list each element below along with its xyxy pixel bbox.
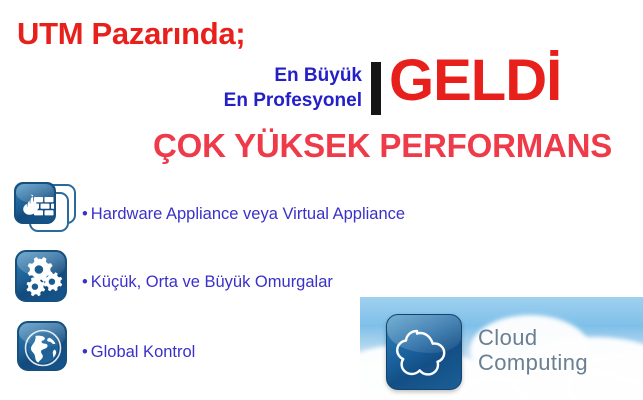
feature-row: •Küçük, Orta ve Büyük Omurgalar <box>10 248 333 316</box>
feature-label-text: Küçük, Orta ve Büyük Omurgalar <box>91 273 333 291</box>
headline-emphasis: GELDİ <box>389 52 561 110</box>
bullet-marker: • <box>82 343 88 361</box>
globe-icon <box>10 318 78 386</box>
bullet-marker: • <box>82 205 88 223</box>
feature-row: •Global Kontrol <box>10 318 195 386</box>
cloud-computing-banner: Cloud Computing <box>360 297 643 400</box>
feature-row: •Hardware Appliance veya Virtual Applian… <box>10 180 405 248</box>
cloud-banner-text: Cloud Computing <box>478 325 588 375</box>
promo-banner: UTM Pazarında; En Büyük En Profesyonel G… <box>0 0 643 400</box>
cloud-icon <box>386 314 462 390</box>
headline-main: UTM Pazarında; <box>17 18 245 49</box>
headline-subtitle-group: En Büyük En Profesyonel <box>160 63 362 113</box>
headline-tagline: ÇOK YÜKSEK PERFORMANS <box>153 129 612 162</box>
feature-label-text: Global Kontrol <box>91 343 196 361</box>
gears-icon <box>10 248 78 316</box>
feature-label: •Global Kontrol <box>82 344 195 361</box>
firewall-icon <box>10 180 78 248</box>
vertical-divider-bar <box>371 62 381 115</box>
bullet-marker: • <box>82 273 88 291</box>
cloud-banner-line-2: Computing <box>478 350 588 375</box>
feature-label: •Küçük, Orta ve Büyük Omurgalar <box>82 274 333 291</box>
headline-sub-line-1: En Büyük <box>160 63 362 88</box>
feature-label: •Hardware Appliance veya Virtual Applian… <box>82 206 405 223</box>
headline-sub-line-2: En Profesyonel <box>160 88 362 113</box>
feature-label-text: Hardware Appliance veya Virtual Applianc… <box>91 205 405 223</box>
cloud-banner-line-1: Cloud <box>478 325 588 350</box>
